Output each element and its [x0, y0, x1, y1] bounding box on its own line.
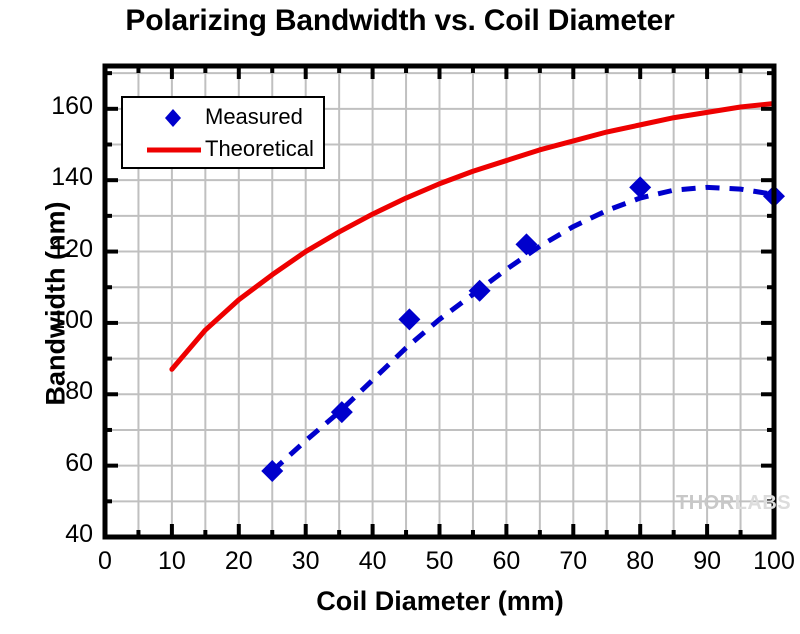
legend-label-measured: Measured — [205, 104, 303, 130]
x-tick-label: 60 — [476, 547, 536, 576]
legend-label-theoretical: Theoretical — [205, 136, 314, 162]
x-tick-label: 80 — [610, 547, 670, 576]
y-tick-label: 80 — [23, 377, 93, 406]
x-tick-label: 30 — [276, 547, 336, 576]
diamond-marker-icon — [145, 102, 201, 134]
x-tick-label: 10 — [142, 547, 202, 576]
y-tick-label: 140 — [23, 163, 93, 192]
legend-item-theoretical[interactable]: Theoretical — [123, 134, 323, 166]
x-tick-label: 100 — [744, 547, 800, 576]
watermark-primary: THOR — [676, 492, 735, 514]
chart-legend[interactable]: Measured Theoretical — [121, 96, 325, 169]
y-tick-label: 160 — [23, 92, 93, 121]
x-tick-label: 40 — [343, 547, 403, 576]
x-tick-label: 90 — [677, 547, 737, 576]
x-tick-label: 20 — [209, 547, 269, 576]
line-marker-icon — [145, 134, 201, 166]
y-tick-label: 40 — [23, 520, 93, 549]
x-tick-label: 50 — [410, 547, 470, 576]
x-tick-label: 70 — [543, 547, 603, 576]
y-tick-label: 60 — [23, 449, 93, 478]
y-tick-label: 100 — [23, 306, 93, 335]
legend-item-measured[interactable]: Measured — [123, 102, 323, 134]
x-tick-label: 0 — [75, 547, 135, 576]
chart-figure: Polarizing Bandwidth vs. Coil Diameter B… — [0, 0, 800, 634]
plot-area — [0, 0, 800, 634]
watermark-secondary: LABS — [735, 492, 791, 514]
thorlabs-watermark: THORLABS — [676, 492, 791, 515]
y-tick-label: 120 — [23, 235, 93, 264]
